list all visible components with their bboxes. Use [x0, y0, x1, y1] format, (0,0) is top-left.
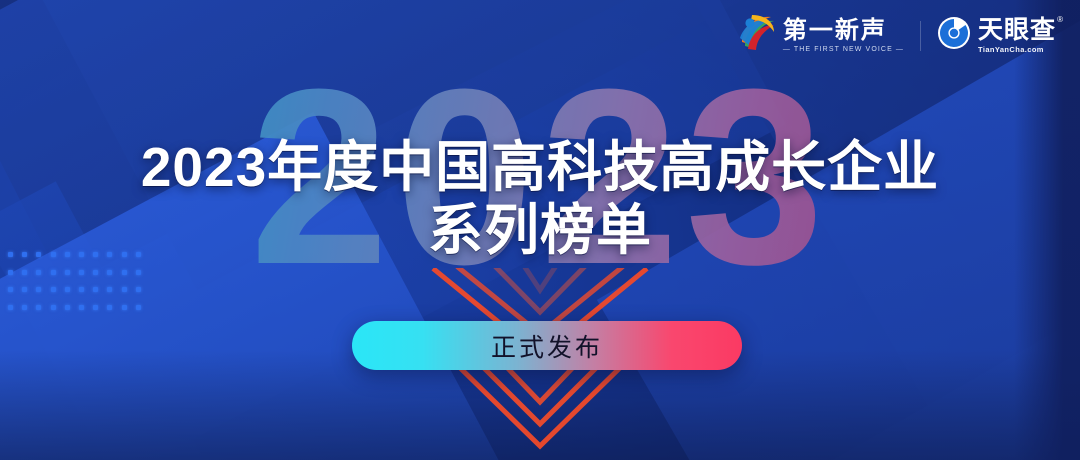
page-title: 2023年度中国高科技高成长企业 系列榜单 — [0, 138, 1080, 261]
tianyancha-domain: TianYanCha.com — [978, 45, 1056, 54]
first-new-voice-tagline: — THE FIRST NEW VOICE — — [783, 46, 904, 53]
tianyancha-trademark: ® — [1057, 15, 1063, 24]
promo-banner: 2023 2023年度中国高科技高成 — [0, 0, 1080, 460]
tianyancha-eye-mark-icon — [937, 16, 971, 55]
logo-tianyancha[interactable]: 天眼查 ® TianYanCha.com — [937, 16, 1056, 55]
logo-divider — [920, 21, 921, 51]
tianyancha-text: 天眼查 ® TianYanCha.com — [978, 17, 1056, 54]
release-status-badge[interactable]: 正式发布 — [352, 321, 742, 370]
title-line-1: 2023年度中国高科技高成长企业 — [141, 136, 939, 198]
logo-first-new-voice[interactable]: 第一新声 — THE FIRST NEW VOICE — — [738, 13, 904, 58]
first-new-voice-mark-icon — [738, 13, 776, 58]
tianyancha-name-cn: 天眼查 — [978, 17, 1056, 43]
chevron-group-below — [440, 358, 640, 460]
logo-bar: 第一新声 — THE FIRST NEW VOICE — 天眼查 ® TianY… — [738, 13, 1056, 58]
release-status-label: 正式发布 — [491, 328, 603, 364]
first-new-voice-name-cn: 第一新声 — [783, 18, 904, 43]
title-line-2: 系列榜单 — [0, 201, 1080, 260]
first-new-voice-text: 第一新声 — THE FIRST NEW VOICE — — [783, 18, 904, 52]
